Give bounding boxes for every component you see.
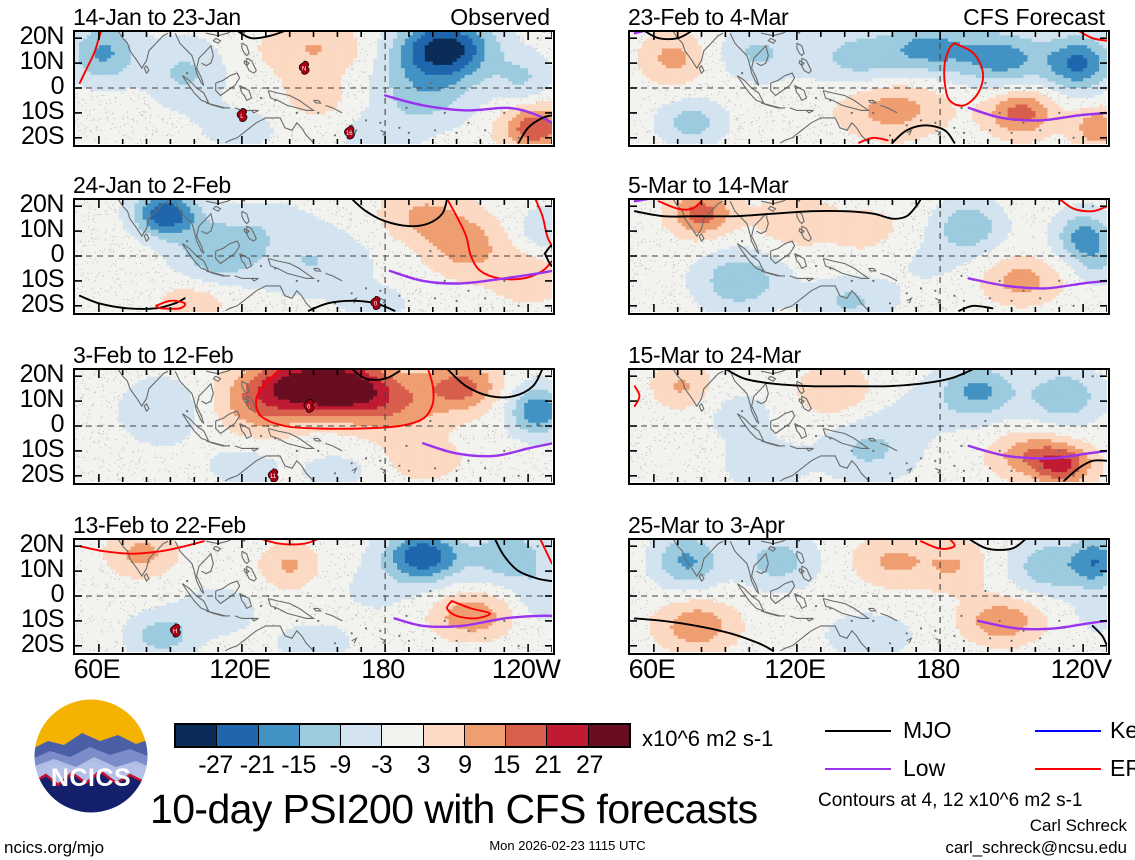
panel-svg-6 xyxy=(630,370,1107,482)
panel-title-1: 24-Jan to 2-Feb xyxy=(73,172,231,199)
ncics-logo-graphic xyxy=(32,697,150,815)
x-tick-label-left-3: 120W xyxy=(492,654,561,685)
panel-title-4: 23-Feb to 4-Mar xyxy=(628,4,788,31)
colorbar-swatch-10 xyxy=(589,725,629,746)
panel-svg-7 xyxy=(630,540,1107,652)
colorbar-swatch-6 xyxy=(424,725,465,746)
y-tick-label-r3-4: 20S xyxy=(0,630,64,659)
legend-line-kelvin-x2 xyxy=(1035,730,1101,732)
main-title: 10-day PSI200 with CFS forecasts xyxy=(150,786,757,833)
x-tick-label-right-2: 180 xyxy=(916,654,960,685)
svg-text:N: N xyxy=(302,67,306,73)
plot-area-2: 6 11 xyxy=(73,368,555,485)
legend-label-2: Low xyxy=(903,755,945,782)
colorbar-swatch-4 xyxy=(341,725,382,746)
x-tick-label-right-1: 120E xyxy=(764,654,825,685)
panel-corner-label-0: Observed xyxy=(450,4,550,31)
colorbar-swatch-7 xyxy=(465,725,506,746)
legend-label-3: ER xyxy=(1110,755,1135,782)
colorbar-tick-9: 27 xyxy=(559,751,619,780)
colorbar-swatch-8 xyxy=(506,725,547,746)
panel-title-3: 13-Feb to 22-Feb xyxy=(73,512,246,539)
colorbar-swatch-9 xyxy=(547,725,588,746)
panel-title-6: 15-Mar to 24-Mar xyxy=(628,342,801,369)
colorbar xyxy=(174,723,631,748)
plot-area-0: N L 16 xyxy=(73,30,555,147)
author-name: Carl Schreck xyxy=(1030,816,1127,836)
legend-label-1: Kelvin x2 xyxy=(1110,717,1135,744)
y-tick-label-r1-4: 20S xyxy=(0,290,64,319)
legend-line-mjo xyxy=(825,730,891,732)
plot-area-5 xyxy=(628,198,1110,315)
x-tick-label-left-0: 60E xyxy=(74,654,121,685)
plot-area-4 xyxy=(628,30,1110,147)
plot-area-3: H xyxy=(73,538,555,655)
contour-note: Contours at 4, 12 x10^6 m2 s-1 xyxy=(818,790,1083,812)
plot-area-7 xyxy=(628,538,1110,655)
y-tick-label-r2-4: 20S xyxy=(0,460,64,489)
plot-area-6 xyxy=(628,368,1110,485)
colorbar-swatch-3 xyxy=(300,725,341,746)
panel-title-0: 14-Jan to 23-Jan xyxy=(73,4,241,31)
colorbar-swatch-1 xyxy=(217,725,258,746)
panel-svg-2: 6 11 xyxy=(75,370,552,482)
panel-svg-3: H xyxy=(75,540,552,652)
x-tick-label-right-3: 120V xyxy=(1051,654,1112,685)
svg-text:16: 16 xyxy=(346,131,353,137)
panel-svg-1: 0 xyxy=(75,200,552,312)
timestamp: Mon 2026-02-23 1115 UTC xyxy=(0,838,1135,853)
panel-svg-0: N L 16 xyxy=(75,32,552,144)
panel-corner-label-4: CFS Forecast xyxy=(963,4,1105,31)
panel-title-5: 5-Mar to 14-Mar xyxy=(628,172,788,199)
panel-title-7: 25-Mar to 3-Apr xyxy=(628,512,785,539)
colorbar-swatch-0 xyxy=(176,725,217,746)
x-tick-label-left-1: 120E xyxy=(209,654,270,685)
y-tick-label-r0-4: 20S xyxy=(0,122,64,151)
ncics-logo: NCICS xyxy=(32,697,150,815)
x-tick-label-right-0: 60E xyxy=(629,654,676,685)
legend-line-er xyxy=(1035,768,1101,770)
panel-svg-4 xyxy=(630,32,1107,144)
panel-svg-5 xyxy=(630,200,1107,312)
legend-line-low xyxy=(825,768,891,770)
panel-title-2: 3-Feb to 12-Feb xyxy=(73,342,233,369)
x-tick-label-left-2: 180 xyxy=(361,654,405,685)
colorbar-swatch-5 xyxy=(382,725,423,746)
legend-label-0: MJO xyxy=(903,717,952,744)
colorbar-units-label: x10^6 m2 s-1 xyxy=(642,726,773,752)
plot-area-1: 0 xyxy=(73,198,555,315)
colorbar-swatch-2 xyxy=(259,725,300,746)
